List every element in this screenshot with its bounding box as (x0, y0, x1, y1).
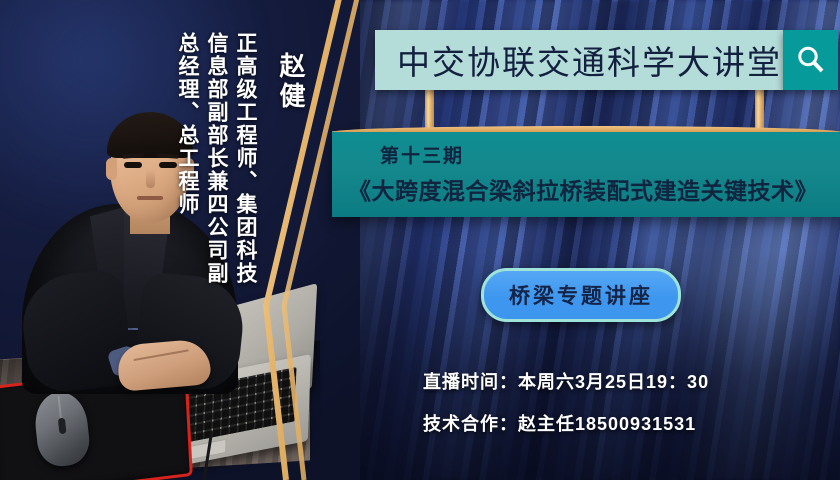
speaker-ear-left (106, 158, 117, 180)
speaker-credential-line-2: 信息部副部长兼四公司副 (205, 32, 227, 285)
topic-category-label: 桥梁专题讲座 (509, 280, 653, 310)
episode-label: 第十三期 (380, 141, 464, 168)
speaker-name: 赵健 (277, 52, 304, 112)
speaker-arm-left (17, 268, 134, 396)
contact-text: 技术合作：赵主任18500931531 (423, 410, 696, 436)
speaker-credential-line-3: 总经理、总工程师 (176, 32, 198, 216)
search-icon (795, 44, 827, 76)
main-title-banner: 中交协联交通科学大讲堂 (375, 30, 783, 90)
search-button[interactable] (783, 30, 838, 90)
speaker-nose (146, 170, 155, 188)
subtitle-panel: 第十三期 《大跨度混合梁斜拉桥装配式建造关键技术》 (332, 131, 840, 217)
speaker-eye-left (124, 162, 142, 168)
panel-gold-edge (332, 126, 840, 132)
speaker-mouth (137, 196, 163, 200)
speaker-credential-line-1: 正高级工程师、集团科技 (234, 32, 256, 285)
speaker-eye-right (159, 162, 177, 168)
main-title-text: 中交协联交通科学大讲堂 (375, 36, 782, 84)
speaker-hands (116, 338, 212, 392)
webinar-poster: 赵健 正高级工程师、集团科技 信息部副部长兼四公司副 总经理、总工程师 (0, 0, 840, 480)
left-background-panel: 赵健 正高级工程师、集团科技 信息部副部长兼四公司副 总经理、总工程师 (0, 0, 360, 480)
broadcast-time-text: 直播时间：本周六3月25日19：30 (423, 368, 709, 394)
topic-category-pill[interactable]: 桥梁专题讲座 (481, 268, 681, 322)
topic-title: 《大跨度混合梁斜拉桥装配式建造关键技术》 (348, 172, 818, 206)
